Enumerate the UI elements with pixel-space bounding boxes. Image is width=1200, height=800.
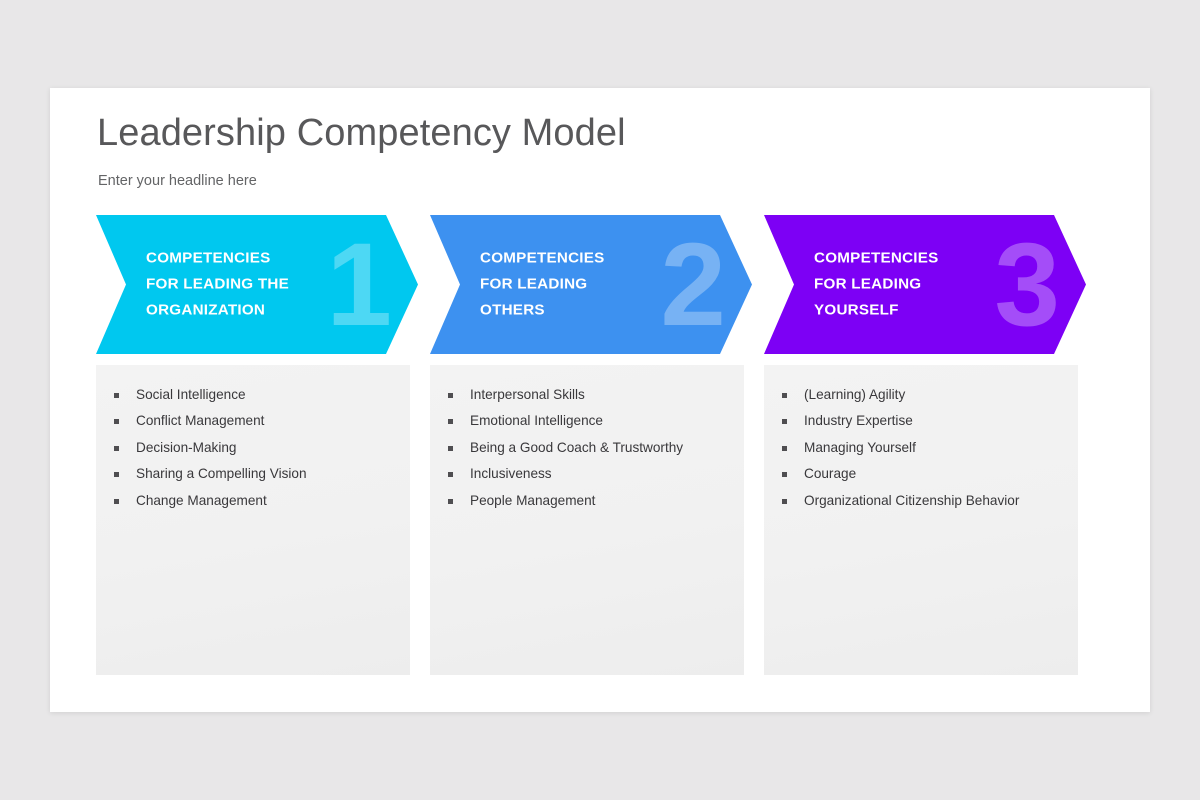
competency-column-3: 3 COMPETENCIES FOR LEADING YOURSELF (Lea… (764, 215, 1098, 675)
list-item: Change Management (112, 493, 394, 510)
square-bullet-icon (114, 499, 119, 504)
banner-title-3: COMPETENCIES FOR LEADING YOURSELF (814, 245, 1014, 324)
list-item-label: Sharing a Compelling Vision (136, 466, 307, 481)
banner-title-1: COMPETENCIES FOR LEADING THE ORGANIZATIO… (146, 245, 346, 324)
list-item-label: Courage (804, 466, 856, 481)
slide-canvas: Leadership Competency Model Enter your h… (50, 88, 1150, 712)
square-bullet-icon (114, 446, 119, 451)
square-bullet-icon (448, 419, 453, 424)
list-item-label: Decision-Making (136, 440, 236, 455)
square-bullet-icon (114, 393, 119, 398)
list-item: Organizational Citizenship Behavior (780, 493, 1062, 510)
square-bullet-icon (782, 446, 787, 451)
list-item: Courage (780, 466, 1062, 483)
chevron-banner-1[interactable]: 1 COMPETENCIES FOR LEADING THE ORGANIZAT… (96, 215, 418, 354)
chevron-banner-2[interactable]: 2 COMPETENCIES FOR LEADING OTHERS (430, 215, 752, 354)
list-item-label: Industry Expertise (804, 413, 913, 428)
competency-column-2: 2 COMPETENCIES FOR LEADING OTHERS Interp… (430, 215, 764, 675)
list-item-label: Inclusiveness (470, 466, 552, 481)
list-item-label: Social Intelligence (136, 387, 246, 402)
square-bullet-icon (114, 472, 119, 477)
square-bullet-icon (448, 472, 453, 477)
square-bullet-icon (782, 393, 787, 398)
page-title: Leadership Competency Model (97, 112, 626, 155)
competency-columns: 1 COMPETENCIES FOR LEADING THE ORGANIZAT… (96, 215, 1104, 675)
list-item: Conflict Management (112, 413, 394, 430)
competency-card-3: (Learning) Agility Industry Expertise Ma… (764, 365, 1078, 675)
list-item: Emotional Intelligence (446, 413, 728, 430)
square-bullet-icon (448, 499, 453, 504)
competency-column-1: 1 COMPETENCIES FOR LEADING THE ORGANIZAT… (96, 215, 430, 675)
square-bullet-icon (782, 499, 787, 504)
square-bullet-icon (114, 419, 119, 424)
list-item: Inclusiveness (446, 466, 728, 483)
list-item-label: Managing Yourself (804, 440, 916, 455)
list-item: Industry Expertise (780, 413, 1062, 430)
list-item-label: Being a Good Coach & Trustworthy (470, 440, 683, 455)
list-item: (Learning) Agility (780, 387, 1062, 404)
list-item-label: Organizational Citizenship Behavior (804, 493, 1019, 508)
competency-list-2: Interpersonal Skills Emotional Intellige… (430, 365, 744, 510)
list-item-label: Interpersonal Skills (470, 387, 585, 402)
competency-list-3: (Learning) Agility Industry Expertise Ma… (764, 365, 1078, 510)
square-bullet-icon (782, 419, 787, 424)
list-item-label: People Management (470, 493, 595, 508)
list-item-label: Change Management (136, 493, 267, 508)
list-item: Decision-Making (112, 440, 394, 457)
list-item-label: (Learning) Agility (804, 387, 905, 402)
competency-list-1: Social Intelligence Conflict Management … (96, 365, 410, 510)
competency-card-2: Interpersonal Skills Emotional Intellige… (430, 365, 744, 675)
square-bullet-icon (448, 446, 453, 451)
list-item-label: Conflict Management (136, 413, 264, 428)
list-item: People Management (446, 493, 728, 510)
list-item-label: Emotional Intelligence (470, 413, 603, 428)
list-item: Sharing a Compelling Vision (112, 466, 394, 483)
square-bullet-icon (782, 472, 787, 477)
list-item: Being a Good Coach & Trustworthy (446, 440, 728, 457)
list-item: Managing Yourself (780, 440, 1062, 457)
banner-title-2: COMPETENCIES FOR LEADING OTHERS (480, 245, 680, 324)
list-item: Interpersonal Skills (446, 387, 728, 404)
square-bullet-icon (448, 393, 453, 398)
competency-card-1: Social Intelligence Conflict Management … (96, 365, 410, 675)
chevron-banner-3[interactable]: 3 COMPETENCIES FOR LEADING YOURSELF (764, 215, 1086, 354)
page-subtitle: Enter your headline here (98, 173, 257, 189)
list-item: Social Intelligence (112, 387, 394, 404)
